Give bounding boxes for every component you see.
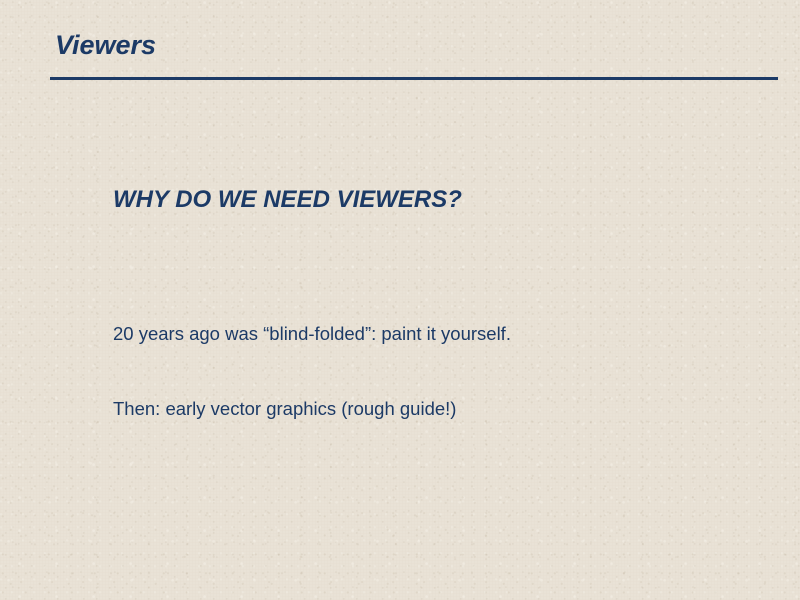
presentation-slide: Viewers WHY DO WE NEED VIEWERS? 20 years… [0,0,800,600]
slide-body: WHY DO WE NEED VIEWERS? 20 years ago was… [113,186,753,421]
body-paragraph-2: Then: early vector graphics (rough guide… [113,397,753,421]
body-paragraph-1: 20 years ago was “blind-folded”: paint i… [113,322,753,346]
slide-content: Viewers WHY DO WE NEED VIEWERS? 20 years… [0,0,800,600]
section-heading: WHY DO WE NEED VIEWERS? [113,186,753,214]
slide-title: Viewers [55,29,156,61]
title-divider-rule [50,77,778,80]
